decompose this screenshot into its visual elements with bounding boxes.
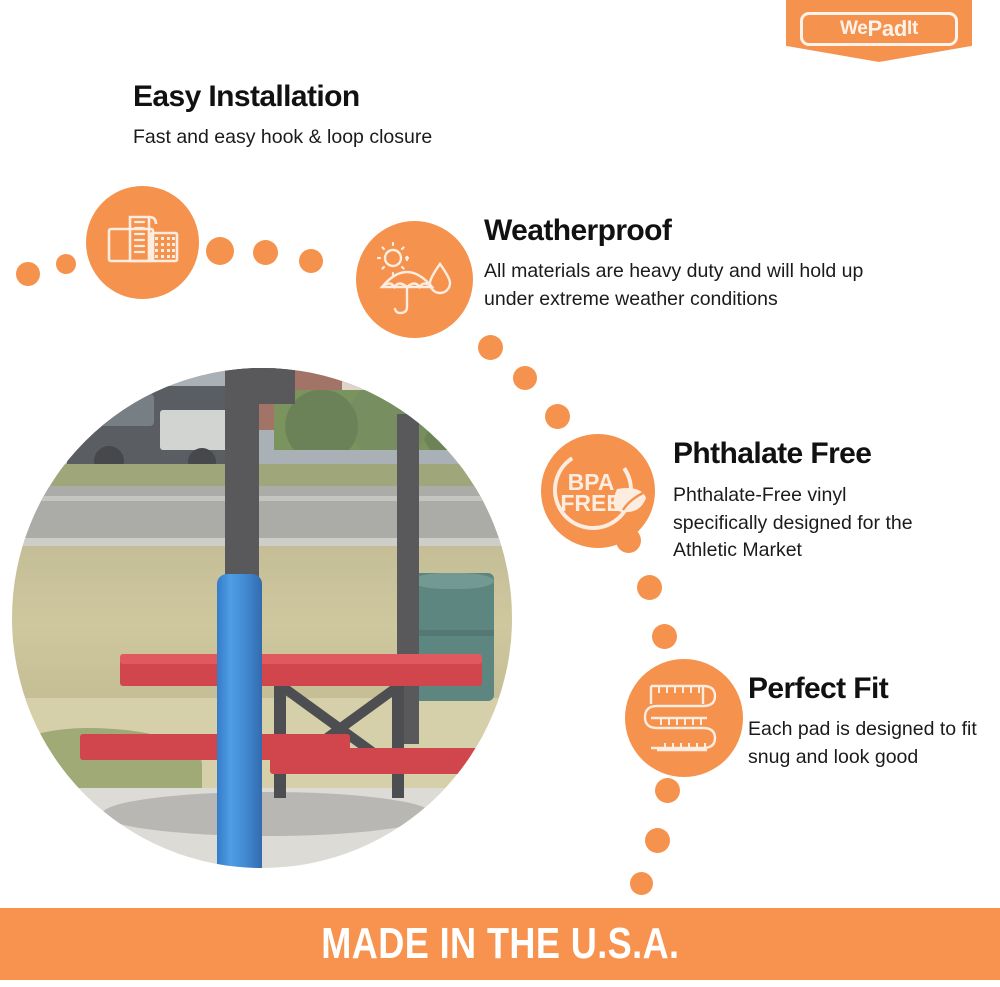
- product-photo: [12, 368, 512, 868]
- sun-umbrella-raindrop-icon: [356, 221, 473, 338]
- trail-dot: [545, 404, 570, 429]
- trail-dot: [637, 575, 662, 600]
- logo-outline-box: We Pad It: [800, 12, 958, 46]
- feature-desc-weatherproof: All materials are heavy duty and will ho…: [484, 258, 914, 313]
- made-in-usa-text: MADE IN THE U.S.A.: [321, 919, 679, 969]
- trail-dot: [253, 240, 278, 265]
- hook-and-loop-strap-icon: [86, 186, 199, 299]
- trail-dot: [655, 778, 680, 803]
- feature-title-weatherproof: Weatherproof: [484, 214, 671, 248]
- trail-dot: [16, 262, 40, 286]
- brand-logo: We Pad It: [786, 0, 972, 62]
- trail-dot: [630, 872, 653, 895]
- trail-dot: [478, 335, 503, 360]
- bpa-free-leaf-icon: BPA FREE: [541, 434, 655, 548]
- feature-desc-perfect-fit: Each pad is designed to fit snug and loo…: [748, 716, 988, 771]
- feature-desc-phthalate-free: Phthalate-Free vinyl specifically design…: [673, 482, 943, 565]
- logo-text-we: We: [840, 18, 868, 40]
- trail-dot: [56, 254, 76, 274]
- trail-dot: [299, 249, 323, 273]
- svg-text:FREE: FREE: [560, 490, 621, 516]
- made-in-usa-banner: MADE IN THE U.S.A.: [0, 908, 1000, 980]
- feature-desc-easy-installation: Fast and easy hook & loop closure: [133, 124, 553, 152]
- feature-title-easy-installation: Easy Installation: [133, 80, 360, 114]
- logo-text-it: It: [907, 18, 918, 40]
- measuring-tape-icon: [625, 659, 743, 777]
- logo-text-pad: Pad: [868, 16, 907, 42]
- trail-dot: [513, 366, 537, 390]
- feature-title-perfect-fit: Perfect Fit: [748, 672, 888, 706]
- infographic-page: We Pad It: [0, 0, 1000, 987]
- trail-dot: [645, 828, 670, 853]
- photo-overlay-haze: [12, 368, 512, 868]
- feature-title-phthalate-free: Phthalate Free: [673, 437, 871, 471]
- trail-dot: [652, 624, 677, 649]
- trail-dot: [206, 237, 234, 265]
